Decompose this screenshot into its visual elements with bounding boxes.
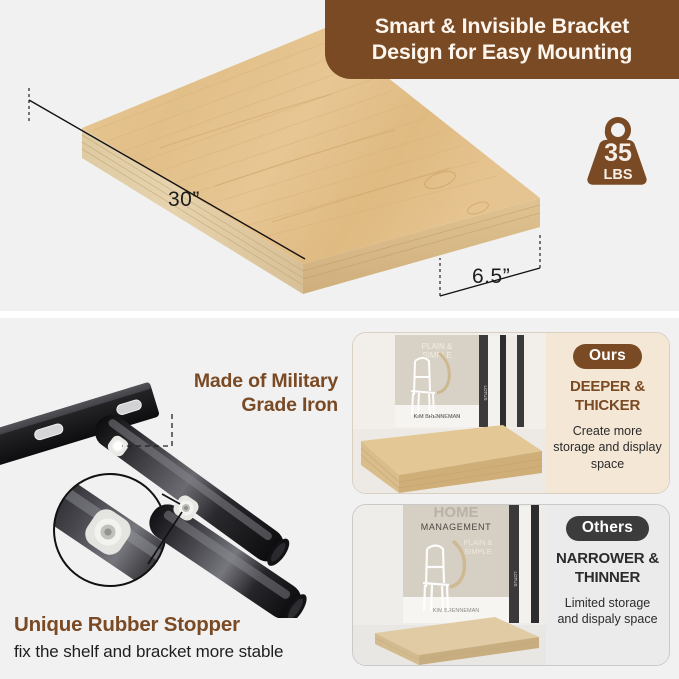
others-info: Others NARROWER & THINNER Limited storag… xyxy=(546,505,669,665)
svg-text:SIMPLE: SIMPLE xyxy=(464,547,492,556)
ours-shelf-photo-graphic: PLAIN & SIMPLE KIM BRENNEMAN KIM BRENNEM… xyxy=(353,333,546,493)
ours-heading: DEEPER & THICKER xyxy=(570,378,645,416)
product-infographic: 30” 6.5” Smart & Invisible Bracket Desig… xyxy=(0,0,679,679)
svg-text:PLAIN &: PLAIN & xyxy=(422,342,453,351)
bracket-material-line-1: Made of Military xyxy=(194,370,338,392)
svg-text:HOME: HOME xyxy=(434,505,479,521)
ours-photo: PLAIN & SIMPLE KIM BRENNEMAN KIM BRENNEM… xyxy=(353,333,546,493)
others-heading-line-2: THINNER xyxy=(575,569,640,586)
features-panel: Made of Military Grade Iron Unique Rubbe… xyxy=(0,318,679,679)
others-body: Limited storage and dispaly space xyxy=(546,595,669,628)
rubber-stopper-subtitle: fix the shelf and bracket more stable xyxy=(14,642,283,662)
bracket-graphic xyxy=(0,318,345,618)
bracket-feature-area: Made of Military Grade Iron Unique Rubbe… xyxy=(0,318,345,679)
svg-text:PLAIN &: PLAIN & xyxy=(464,538,493,547)
others-heading-line-1: NARROWER & xyxy=(556,550,659,567)
weight-badge-text: 35 LBS xyxy=(579,112,657,188)
weight-unit: LBS xyxy=(604,167,633,184)
headline-text: Smart & Invisible Bracket Design for Eas… xyxy=(362,14,642,65)
shelf-width-label: 30” xyxy=(168,188,200,212)
svg-text:KIM BRENNEMAN: KIM BRENNEMAN xyxy=(414,414,460,420)
comparison-section: PLAIN & SIMPLE KIM BRENNEMAN KIM BRENNEM… xyxy=(352,332,668,666)
ours-heading-line-2: THICKER xyxy=(575,397,640,414)
others-badge: Others xyxy=(566,516,649,541)
ours-badge: Ours xyxy=(573,344,642,369)
others-shelf-photo-graphic: HOME MANAGEMENT PLAIN & SIMPLE KIM BRENN… xyxy=(353,505,546,665)
bracket-material-title: Made of Military Grade Iron xyxy=(148,370,338,418)
bracket-material-line-2: Grade Iron xyxy=(241,394,338,416)
shelf-depth-label: 6.5” xyxy=(472,265,510,289)
comparison-card-ours: PLAIN & SIMPLE KIM BRENNEMAN KIM BRENNEM… xyxy=(352,332,670,494)
ours-body: Create more storage and display space xyxy=(546,423,669,473)
section-divider xyxy=(0,311,679,318)
headline-banner: Smart & Invisible Bracket Design for Eas… xyxy=(325,0,679,79)
svg-text:KIM BRENNEMAN: KIM BRENNEMAN xyxy=(433,608,479,614)
ours-info: Ours DEEPER & THICKER Create more storag… xyxy=(546,333,669,493)
headline-line-1: Smart & Invisible Bracket xyxy=(372,14,632,39)
svg-text:MANAGEMENT: MANAGEMENT xyxy=(421,522,492,532)
svg-text:LOTUS: LOTUS xyxy=(513,571,518,586)
shelf-overview-panel: 30” 6.5” Smart & Invisible Bracket Desig… xyxy=(0,0,679,311)
others-heading: NARROWER & THINNER xyxy=(556,550,659,588)
headline-line-2: Design for Easy Mounting xyxy=(372,40,632,65)
weight-capacity-badge: 35 LBS xyxy=(579,112,657,188)
ours-heading-line-1: DEEPER & xyxy=(570,378,645,395)
weight-value: 35 xyxy=(604,141,632,166)
comparison-card-others: HOME MANAGEMENT PLAIN & SIMPLE KIM BRENN… xyxy=(352,504,670,666)
others-photo: HOME MANAGEMENT PLAIN & SIMPLE KIM BRENN… xyxy=(353,505,546,665)
rubber-stopper-title: Unique Rubber Stopper xyxy=(14,613,240,637)
svg-text:LOTUS: LOTUS xyxy=(483,385,488,400)
